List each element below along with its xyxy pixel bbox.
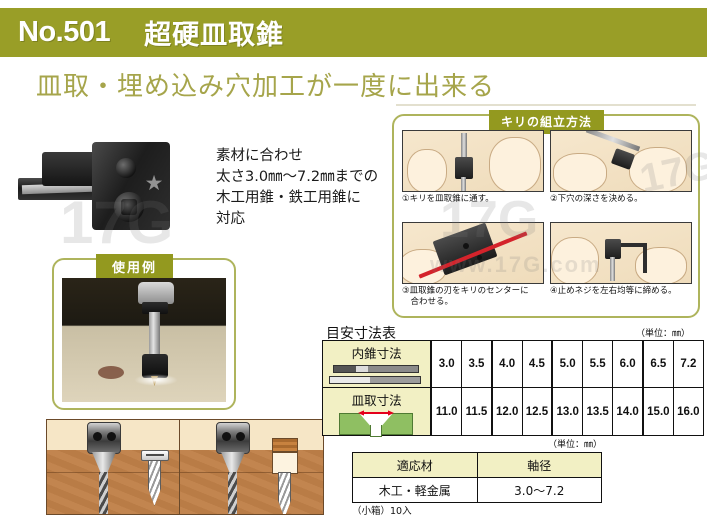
drill-bit [99,472,108,515]
table-cell: 11.0 [431,388,461,436]
countersink-section-diagram [323,409,430,435]
assembly-step-4-caption: ④止めネジを左右均等に締める。 [550,286,692,297]
double-arrow-icon [358,410,394,416]
column-header-shaft-diameter: 軸径 [477,453,602,478]
wood-plug [272,438,298,452]
assembly-step-2: ②下穴の深さを決める。 [550,130,692,218]
product-name: 超硬皿取錐 [144,13,284,52]
dimension-table-unit-note: （単位：㎜） [636,326,690,339]
table-cell: 7.2 [673,341,703,388]
set-screw-dot [222,432,231,441]
feature-line-2: 太さ3.0㎜〜7.2㎜までの [216,167,378,188]
material-table: 適応材 軸径 木工・軽金属 3.0〜7.2 [352,452,602,503]
table-cell: 6.0 [613,341,643,388]
table-cell: 13.5 [583,388,613,436]
row-header-countersink: 皿取寸法 [323,388,432,436]
box-quantity-note: （小箱）10入 [352,503,412,517]
wood-dust [134,374,178,386]
assembly-step-4: ④止めネジを左右均等に締める。 [550,222,692,310]
table-cell-shaft-diameter: 3.0〜7.2 [477,478,602,503]
drill-chuck [138,282,174,304]
table-row: 皿取寸法 11.0 11.5 12.0 12.5 13.0 13.5 14.0 … [323,388,704,436]
table-cell: 3.0 [431,341,461,388]
dimension-table: 内錐寸法 3.0 3.5 4.0 4.5 5.0 5.5 6.0 6.5 7.2… [322,340,704,436]
application-illustration-plug [179,419,324,515]
hand-shape [407,149,447,192]
usage-example-photo [62,278,226,402]
table-cell: 5.5 [583,341,613,388]
table-cell: 6.5 [643,341,673,388]
drill-shaft [149,312,160,358]
drill-bits-diagram [323,363,430,387]
countersink-tool [87,422,121,454]
set-screw-dot [463,243,469,249]
subtitle-divider [396,104,696,106]
table-cell: 16.0 [673,388,703,436]
table-cell: 15.0 [643,388,673,436]
table-cell: 11.5 [462,388,492,436]
wood-grain-line [180,472,323,473]
drill-bit-shape [610,257,615,281]
assembly-step-1-caption: ①キリを皿取錐に通す。 [402,194,544,205]
feature-description: 素材に合わせ 太さ3.0㎜〜7.2㎜までの 木工用錐・鉄工用錐に 対応 [216,146,378,230]
twist-bit-shape [329,376,421,384]
assembly-step-3-image [402,222,544,284]
assembly-step-3-caption: ③皿取錐の刃をキリのセンターに 合わせる。 [402,286,544,307]
set-screw-dot [107,432,116,441]
table-cell: 3.5 [462,341,492,388]
assembly-step-1: ①キリを皿取錐に通す。 [402,130,544,218]
table-cell: 4.0 [492,341,522,388]
countersink-shape [455,157,473,179]
drilled-hole [98,366,124,379]
set-screw-lower [114,192,144,222]
assembly-step-2-caption: ②下穴の深さを決める。 [550,194,692,205]
assembly-step-2-image [550,130,692,192]
product-subtitle: 皿取・埋め込み穴加工が一度に出来る [36,66,495,103]
set-screw-upper [116,158,136,178]
star-icon: ★ [144,174,164,194]
table-row: 内錐寸法 3.0 3.5 4.0 4.5 5.0 5.5 6.0 6.5 7.2 [323,341,704,388]
countersink-tool [216,422,250,454]
assembly-step-4-image [550,222,692,284]
usage-example-badge: 使用例 [96,254,173,280]
feature-line-3: 木工用錐・鉄工用錐に [216,188,378,209]
feature-line-4: 対応 [216,209,378,230]
hand-shape [551,237,599,284]
feature-line-1: 素材に合わせ [216,146,378,167]
table-cell-material: 木工・軽金属 [353,478,478,503]
hand-shape [489,137,541,192]
row-header-inner-cone: 内錐寸法 [323,341,432,388]
product-header-bar: No.501 超硬皿取錐 [0,8,707,57]
set-screw-dot [477,255,482,260]
assembly-step-3: ③皿取錐の刃をキリのセンターに 合わせる。 [402,222,544,310]
hex-key-icon [643,243,647,273]
pilot-hole-shape [370,425,382,437]
drill-bit [228,472,237,515]
product-photo: ★ [18,130,198,238]
drill-bit-shape [586,130,640,151]
product-number: No.501 [18,16,110,49]
material-table-unit-note: （単位：㎜） [548,437,602,450]
table-cell: 12.0 [492,388,522,436]
row-header-countersink-label: 皿取寸法 [323,388,430,409]
application-illustration-countersink [46,419,191,515]
set-screw-dot [236,432,245,441]
hand-shape [553,153,607,192]
wood-board [180,450,323,514]
assembly-steps: ①キリを皿取錐に通す。 ②下穴の深さを決める。 ③皿取錐の刃をキリのセンターに … [402,130,692,310]
table-header-row: 適応材 軸径 [353,453,602,478]
screw-slot [146,454,164,456]
plug-hole [272,452,298,474]
table-cell: 14.0 [613,388,643,436]
wood-grain-line [47,472,190,473]
table-cell: 5.0 [552,341,582,388]
auger-bit-shape [333,365,419,373]
table-cell: 13.0 [552,388,582,436]
table-cell: 4.5 [522,341,552,388]
table-cell: 12.5 [522,388,552,436]
countersink-shape [605,239,621,259]
drill-bit-shape [461,133,467,159]
set-screw-dot [93,432,102,441]
table-row: 木工・軽金属 3.0〜7.2 [353,478,602,503]
column-header-material: 適応材 [353,453,478,478]
drill-point-shape [461,177,466,191]
row-header-inner-cone-label: 内錐寸法 [323,341,430,362]
hand-shape [629,147,687,192]
assembly-step-1-image [402,130,544,192]
